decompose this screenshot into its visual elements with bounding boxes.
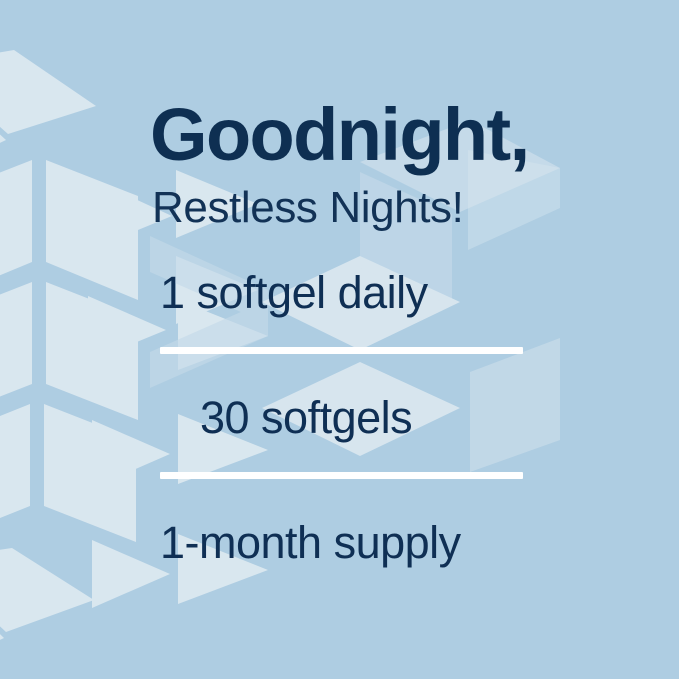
- callout-content: Goodnight, Restless Nights! 1 softgel da…: [0, 0, 679, 679]
- divider-2: [160, 472, 523, 479]
- page-title: Goodnight,: [150, 96, 550, 174]
- page-subtitle: Restless Nights!: [152, 184, 552, 232]
- spec-count: 30 softgels: [200, 393, 640, 443]
- spec-dosage: 1 softgel daily: [160, 268, 600, 318]
- divider-1: [160, 347, 523, 354]
- product-callout-card: Goodnight, Restless Nights! 1 softgel da…: [0, 0, 679, 679]
- spec-supply-duration: 1-month supply: [160, 518, 600, 568]
